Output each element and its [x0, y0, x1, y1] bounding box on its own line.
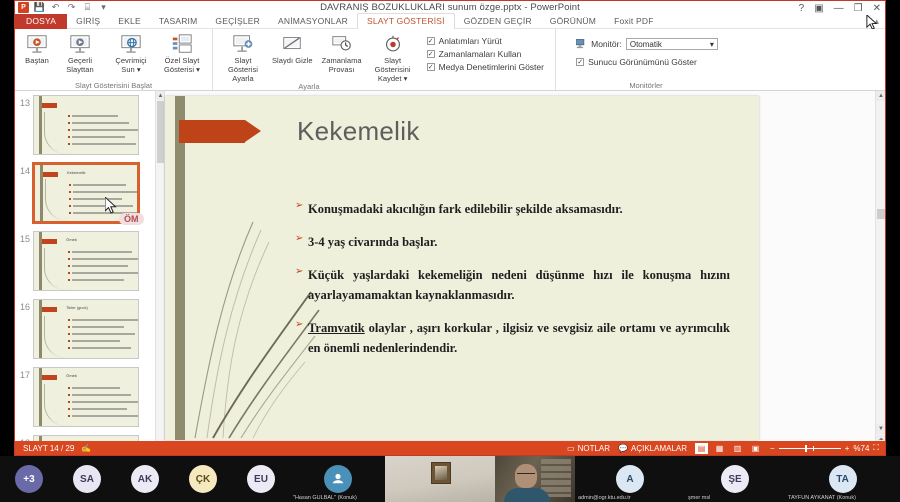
slide-thumbnail-number: 17 [17, 367, 33, 380]
setup-slideshow-button[interactable]: Slayt Gösterisi Ayarla [218, 31, 268, 84]
checkbox-checked-icon: ✓ [427, 37, 435, 45]
start-from-beginning-icon [26, 32, 48, 56]
participant-name: "Hasan GÜLBAL" (Konuk) [293, 495, 357, 501]
bullet-text: Konuşmadaki akıcılığın fark edilebilir ş… [308, 199, 623, 219]
thumb-bullet-marker [68, 251, 70, 253]
help-icon[interactable]: ? [799, 3, 805, 14]
thumb-bullet-marker [68, 326, 70, 328]
normal-view-button[interactable]: ▤ [695, 443, 708, 454]
participant-video-tile[interactable] [495, 456, 575, 502]
presenter-view-checkbox[interactable]: ✓ Sunucu Görünümünü Göster [576, 57, 718, 67]
participant-tile[interactable]: AK [116, 456, 174, 502]
thumb-banner-icon [42, 239, 57, 244]
present-online-button[interactable]: Çevrimiçi Sun ▾ [106, 31, 156, 75]
slide-editing-pane[interactable]: Kekemelik ➢Konuşmadaki akıcılığın fark e… [165, 91, 885, 456]
thumb-bullet-marker [68, 401, 70, 403]
chevron-down-icon: ▾ [710, 40, 714, 49]
thumb-text-line [72, 115, 118, 117]
participant-tile[interactable]: SA [58, 456, 116, 502]
zoom-slider-handle[interactable] [805, 445, 807, 452]
bullet-text-rest: olaylar , aşırı korkular , ilgisiz ve se… [308, 321, 730, 355]
participant-tile[interactable]: TATAYFUN AYKANAT (Konuk) [785, 456, 900, 502]
tab-slayt-gösteri̇si̇[interactable]: SLAYT GÖSTERİSİ [357, 13, 455, 30]
zoom-out-button[interactable]: − [770, 444, 775, 453]
zoom-slider-tick [813, 446, 814, 451]
thumb-banner-icon [43, 172, 58, 177]
thumb-bullet-marker [68, 258, 70, 260]
close-button[interactable]: ✕ [873, 3, 881, 14]
participant-avatar: +3 [15, 465, 43, 493]
slide-thumbnail-15[interactable]: 15Örnek [15, 227, 155, 295]
thumb-bullet-marker [68, 394, 70, 396]
monitor-icon [576, 39, 587, 49]
tab-görünüm[interactable]: GÖRÜNÜM [541, 14, 605, 29]
slide-thumbnail-16[interactable]: 16Tikler (gıcık) [15, 295, 155, 363]
bullet-marker-icon: ➢ [295, 199, 308, 213]
participant-avatar: AK [131, 465, 159, 493]
thumb-bullet-marker [68, 408, 70, 410]
custom-slideshow-icon [171, 32, 193, 56]
thumb-bullet-marker [68, 387, 70, 389]
record-slideshow-label: Slayt Gösterisini Kaydet ▾ [371, 56, 415, 83]
thumb-title: Kekemelik [67, 170, 85, 175]
thumb-text-line [72, 265, 128, 267]
monitor-select[interactable]: Otomatik ▾ [626, 38, 718, 50]
thumb-text-line [72, 387, 120, 389]
slide-bullet: ➢3-4 yaş civarında başlar. [295, 232, 730, 252]
record-slideshow-button[interactable]: Slayt Gösterisini Kaydet ▾ [368, 31, 418, 84]
zoom-control[interactable]: − + %74 ⛶ [770, 443, 879, 453]
from-beginning-button[interactable]: Baştan [20, 31, 54, 66]
thumb-text-line [73, 184, 126, 186]
hide-slide-button[interactable]: Slaydı Gizle [269, 31, 316, 66]
wall-picture-icon [431, 462, 451, 484]
setup-slideshow-icon [232, 32, 254, 56]
thumb-text-line [72, 136, 125, 138]
record-slideshow-icon [382, 32, 404, 56]
thumb-grass-icon [45, 179, 67, 221]
status-bar: SLAYT 14 / 29 ✍ ▭ NOTLAR 💬 AÇIKLAMALAR ▤… [15, 441, 885, 455]
presenter-view-label: Sunucu Görünümünü Göster [588, 57, 697, 67]
tab-dosya[interactable]: DOSYA [15, 14, 67, 29]
thumb-bullet-marker [68, 272, 70, 274]
participant-tile[interactable]: +3 [0, 456, 58, 502]
participant-tile[interactable]: ŞEşmer msl [685, 456, 785, 502]
slide-banner-arrow-tip [245, 120, 261, 142]
notes-icon: ▭ [567, 444, 575, 453]
hide-slide-icon [281, 32, 303, 56]
mouse-cursor-icon [866, 15, 879, 30]
window-controls[interactable]: ? ▣ — ❐ ✕ [799, 1, 881, 15]
bullet-marker-icon: ➢ [295, 318, 308, 332]
mouse-cursor-icon [105, 197, 117, 214]
screen-root: P 💾 ↶ ↷ ⌸ ▾ DAVRANIŞ BOZUKLUKLARI sunum … [0, 0, 900, 502]
thumb-title: Tikler (gıcık) [66, 305, 88, 310]
minimize-button[interactable]: — [834, 3, 844, 14]
slide-bullet: ➢Konuşmadaki akıcılığın fark edilebilir … [295, 199, 730, 219]
slide-thumbnail-number: 13 [17, 95, 33, 108]
thumb-bullet-marker [68, 319, 70, 321]
setup-slideshow-label: Slayt Gösterisi Ayarla [221, 56, 265, 83]
thumb-grass-icon [44, 316, 66, 358]
scroll-down-icon[interactable]: ▼ [876, 424, 886, 434]
zoom-level-label[interactable]: %74 [853, 444, 869, 453]
thumb-title: Örnek [66, 373, 77, 378]
reading-view-button[interactable]: ▥ [731, 443, 744, 454]
group-label-start-slideshow: Slayt Gösterisini Başlat [75, 80, 152, 90]
slide-banner-shape [179, 120, 245, 143]
rehearse-timings-button[interactable]: Zamanlama Provası [317, 31, 367, 75]
monitor-selector-row[interactable]: Monitör: Otomatik ▾ [576, 38, 718, 50]
thumb-bullet-marker [68, 415, 70, 417]
thumb-bullet-marker [68, 115, 70, 117]
thumb-text-line [72, 272, 139, 274]
bullet-text: 3-4 yaş civarında başlar. [308, 232, 437, 252]
thumb-bullet-marker [69, 191, 71, 193]
custom-slideshow-label: Özel Slayt Gösterisi ▾ [160, 56, 204, 74]
slide-thumbnail-pane[interactable]: 1314Kekemelik15Örnek16Tikler (gıcık)17Ör… [15, 91, 165, 456]
thumb-title: Örnek [66, 237, 77, 242]
thumb-text-line [72, 129, 139, 131]
thumb-bullet-marker [68, 333, 70, 335]
thumb-banner-icon [42, 307, 57, 312]
thumb-text-line [72, 347, 131, 349]
thumb-banner-icon [42, 103, 57, 108]
slide-thumbnail-number: 14 [17, 163, 33, 176]
group-label-monitors: Monitörler [629, 80, 662, 90]
checkbox-checked-icon: ✓ [427, 63, 435, 71]
participant-avatar: SA [73, 465, 101, 493]
bullet-text: Küçük yaşlardaki kekemeliğin nedeni düşü… [308, 265, 730, 305]
thumb-grass-icon [44, 248, 66, 290]
thumb-bullet-marker [69, 198, 71, 200]
show-media-controls-label: Medya Denetimlerini Göster [439, 62, 544, 72]
slide-counter: SLAYT 14 / 29 [23, 444, 74, 453]
monitor-selected-value: Otomatik [630, 40, 662, 49]
thumb-bullet-marker [69, 212, 71, 214]
meeting-participant-filmstrip[interactable]: +3SAAKÇKEU"Hasan GÜLBAL" (Konuk)Aadmin@o… [0, 456, 900, 502]
tab-ani̇masyonlar[interactable]: ANİMASYONLAR [269, 14, 357, 29]
from-beginning-label: Baştan [25, 56, 49, 65]
play-narrations-label: Anlatımları Yürüt [439, 36, 502, 46]
work-area: 1314Kekemelik15Örnek16Tikler (gıcık)17Ör… [15, 91, 885, 456]
participant-avatar: ŞE [721, 465, 749, 493]
thumb-bullet-marker [68, 265, 70, 267]
ribbon-group-start-slideshow: Baştan Geçerli Slayttan Çevrimiçi Sun ▾ [15, 29, 213, 90]
thumb-text-line [72, 258, 139, 260]
scrollbar-thumb[interactable] [877, 209, 885, 219]
thumb-text-line [73, 205, 133, 207]
ribbon-display-options-icon[interactable]: ▣ [814, 3, 823, 14]
participant-avatar: A [616, 465, 644, 493]
bullet-marker-icon: ➢ [295, 265, 308, 279]
slide-thumbnail-preview[interactable]: Örnek [33, 367, 139, 427]
slideshow-view-button[interactable]: ▣ [749, 443, 762, 454]
presence-badge: ÖM [119, 213, 144, 225]
thumb-bullet-marker [69, 184, 71, 186]
current-slide[interactable]: Kekemelik ➢Konuşmadaki akıcılığın fark e… [165, 96, 759, 440]
person-avatar-icon [324, 465, 352, 493]
powerpoint-window: P 💾 ↶ ↷ ⌸ ▾ DAVRANIŞ BOZUKLUKLARI sunum … [14, 0, 886, 456]
play-narrations-checkbox[interactable]: ✓ Anlatımları Yürüt [427, 36, 544, 46]
person-body-icon [504, 488, 550, 502]
thumb-bullet-marker [68, 279, 70, 281]
comments-label: AÇIKLAMALAR [631, 444, 687, 453]
slide-scrollbar[interactable]: ▲ ▼ ⏶ ⏷ [875, 91, 885, 456]
present-online-label: Çevrimiçi Sun ▾ [109, 56, 153, 74]
tab-tasarim[interactable]: TASARIM [150, 14, 207, 29]
glasses-icon [517, 473, 535, 477]
notes-button[interactable]: ▭ NOTLAR [567, 444, 610, 453]
bullet-underlined-term: Tramvatik [308, 321, 365, 335]
ribbon: Baştan Geçerli Slayttan Çevrimiçi Sun ▾ [15, 29, 885, 91]
participant-avatar: TA [829, 465, 857, 493]
thumbnail-scrollbar[interactable]: ▲ ▼ [155, 91, 164, 456]
from-current-slide-icon [69, 32, 91, 56]
slide-body-text[interactable]: ➢Konuşmadaki akıcılığın fark edilebilir … [295, 199, 730, 371]
thumb-text-line [72, 143, 136, 145]
participant-tile[interactable]: Aadmin@ogr.ktu.edu.tr [575, 456, 685, 502]
comments-button[interactable]: 💬 AÇIKLAMALAR [618, 444, 687, 453]
thumb-bullet-marker [68, 122, 70, 124]
checkbox-checked-icon: ✓ [576, 58, 584, 66]
slide-bullet: ➢Küçük yaşlardaki kekemeliğin nedeni düş… [295, 265, 730, 305]
slide-thumbnail-number: 16 [17, 299, 33, 312]
fit-to-window-button[interactable]: ⛶ [873, 443, 879, 453]
scrollbar-thumb[interactable] [157, 101, 164, 163]
custom-slideshow-button[interactable]: Özel Slayt Gösterisi ▾ [157, 31, 207, 75]
present-online-icon [120, 32, 142, 56]
ribbon-group-monitors: Monitör: Otomatik ▾ ✓ Sunucu Görünümünü … [556, 29, 736, 90]
ribbon-tab-bar: DOSYAGİRİŞEKLETASARIMGEÇİŞLERANİMASYONLA… [15, 15, 885, 29]
video-feed [385, 456, 495, 502]
thumb-text-line [72, 319, 139, 321]
ribbon-group-setup: Slayt Gösterisi Ayarla Slaydı Gizle Zama… [213, 29, 556, 90]
slide-thumbnail-preview[interactable]: Tikler (gıcık) [33, 299, 139, 359]
slide-accent-bar [175, 96, 185, 440]
participant-name: TAYFUN AYKANAT (Konuk) [788, 495, 856, 501]
slide-thumbnail-preview[interactable] [33, 95, 139, 155]
thumb-bullet-marker [69, 205, 71, 207]
thumb-banner-icon [42, 375, 57, 380]
use-timings-checkbox[interactable]: ✓ Zamanlamaları Kullan [427, 49, 544, 59]
use-timings-label: Zamanlamaları Kullan [439, 49, 522, 59]
thumb-bullet-marker [68, 143, 70, 145]
thumb-bullet-marker [68, 129, 70, 131]
view-buttons[interactable]: ▤▦▥▣ [695, 443, 762, 454]
bullet-marker-icon: ➢ [295, 232, 308, 246]
thumb-grass-icon [44, 112, 66, 154]
tab-foxit-pdf[interactable]: Foxit PDF [605, 14, 663, 29]
tab-geçi̇şler[interactable]: GEÇİŞLER [206, 14, 269, 29]
from-current-slide-button[interactable]: Geçerli Slayttan [55, 31, 105, 75]
comment-icon: 💬 [618, 444, 628, 453]
notes-label: NOTLAR [578, 444, 610, 453]
thumb-text-line [73, 191, 137, 193]
tab-ekle[interactable]: EKLE [109, 14, 150, 29]
rehearse-timings-label: Zamanlama Provası [320, 56, 364, 74]
slide-title[interactable]: Kekemelik [297, 116, 420, 147]
participant-video-tile[interactable] [385, 456, 495, 502]
slide-thumbnail-13[interactable]: 13 [15, 91, 155, 159]
monitor-label: Monitör: [591, 39, 622, 49]
restore-button[interactable]: ❐ [854, 3, 863, 14]
thumb-text-line [72, 251, 132, 253]
tab-gi̇ri̇ş[interactable]: GİRİŞ [67, 14, 109, 29]
participant-tile[interactable]: ÇK [174, 456, 232, 502]
participant-tile[interactable]: "Hasan GÜLBAL" (Konuk) [290, 456, 385, 502]
slide-thumbnail-17[interactable]: 17Örnek [15, 363, 155, 431]
checkbox-checked-icon: ✓ [427, 50, 435, 58]
slide-thumbnail-preview[interactable]: Örnek [33, 231, 139, 291]
slide-sorter-view-button[interactable]: ▦ [713, 443, 726, 454]
thumb-bullet-marker [68, 136, 70, 138]
show-media-controls-checkbox[interactable]: ✓ Medya Denetimlerini Göster [427, 62, 544, 72]
participant-avatar: ÇK [189, 465, 217, 493]
thumb-bullet-marker [68, 340, 70, 342]
thumb-text-line [72, 401, 139, 403]
participant-name: admin@ogr.ktu.edu.tr [578, 495, 631, 501]
thumb-text-line [72, 122, 129, 124]
setup-checkbox-column: ✓ Anlatımları Yürüt ✓ Zamanlamaları Kull… [419, 31, 550, 72]
zoom-slider[interactable] [779, 448, 841, 449]
scroll-up-icon[interactable]: ▲ [876, 91, 886, 101]
thumb-text-line [72, 333, 135, 335]
hide-slide-label: Slaydı Gizle [272, 56, 313, 65]
video-feed [495, 456, 575, 502]
thumb-text-line [72, 340, 120, 342]
group-label-setup: Ayarla [298, 81, 319, 91]
participant-avatar: EU [247, 465, 275, 493]
from-current-slide-label: Geçerli Slayttan [58, 56, 102, 74]
thumb-text-line [72, 408, 127, 410]
document-title: DAVRANIŞ BOZUKLUKLARI sunum özge.pptx - … [15, 2, 885, 13]
participant-name: şmer msl [688, 495, 710, 501]
rehearse-timings-icon [331, 32, 353, 56]
zoom-in-button[interactable]: + [845, 444, 850, 453]
scroll-up-icon[interactable]: ▲ [156, 91, 165, 100]
tab-gözden-geçi̇r[interactable]: GÖZDEN GEÇİR [455, 14, 541, 29]
thumb-text-line [72, 415, 138, 417]
slide-thumbnail-number: 15 [17, 231, 33, 244]
participant-tile[interactable]: EU [232, 456, 290, 502]
thumb-text-line [72, 394, 131, 396]
thumb-text-line [72, 326, 124, 328]
thumb-text-line [72, 279, 124, 281]
slide-bullet: ➢Tramvatik olaylar , aşırı korkular , il… [295, 318, 730, 358]
thumb-bullet-marker [68, 347, 70, 349]
language-status-icon[interactable]: ✍ [81, 444, 91, 453]
thumb-grass-icon [44, 384, 66, 426]
bullet-text: Tramvatik olaylar , aşırı korkular , ilg… [308, 318, 730, 358]
